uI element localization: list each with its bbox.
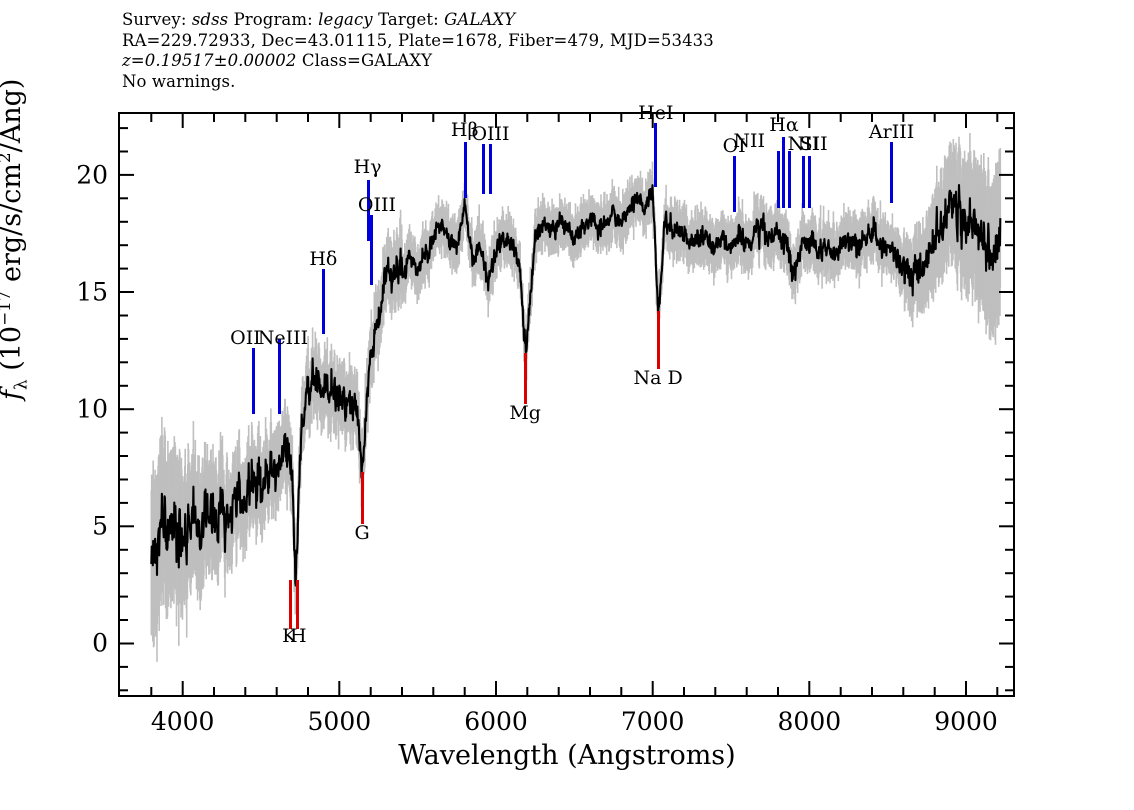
y-tick-20: 20 xyxy=(76,160,108,189)
plot-area: OIINeIIIHδKHGHγOIIIMgHβOIIIHeINa DOINIIH… xyxy=(118,112,1015,697)
header-line-survey: Survey: sdss Program: legacy Target: GAL… xyxy=(122,10,1022,31)
x-axis-label: Wavelength (Angstroms) xyxy=(0,740,1134,771)
header-line-coords: RA=229.72933, Dec=43.01115, Plate=1678, … xyxy=(122,31,1022,52)
x-tick-7000: 7000 xyxy=(621,707,685,736)
target-label: Target: xyxy=(373,10,444,29)
line-tick xyxy=(890,142,893,203)
program-value: legacy xyxy=(318,10,373,29)
header-line-redshift: z=0.19517±0.00002 Class=GALAXY xyxy=(122,51,1022,72)
x-tick-4000: 4000 xyxy=(151,707,215,736)
survey-label: Survey: xyxy=(122,10,192,29)
header-block: Survey: sdss Program: legacy Target: GAL… xyxy=(122,10,1022,92)
ylabel-units: erg/s/cm xyxy=(0,163,27,291)
y-axis-label: fλ (10−17 erg/s/cm2/Ang) xyxy=(0,79,30,400)
ylabel-mid: (10 xyxy=(0,326,27,379)
target-value: GALAXY xyxy=(444,10,515,29)
ylabel-units-exp: 2 xyxy=(0,152,14,163)
x-tick-6000: 6000 xyxy=(464,707,528,736)
ylabel-units-tail: /Ang) xyxy=(0,79,27,153)
y-tick-15: 15 xyxy=(76,278,108,307)
ylabel-f: f xyxy=(0,390,27,400)
survey-value: sdss xyxy=(192,10,228,29)
redshift-value: z=0.19517±0.00002 xyxy=(122,51,297,70)
y-tick-10: 10 xyxy=(76,395,108,424)
x-tick-5000: 5000 xyxy=(308,707,372,736)
class-value: Class=GALAXY xyxy=(297,51,433,70)
x-tick-9000: 9000 xyxy=(934,707,998,736)
line-label-ArIII: ArIII xyxy=(869,121,914,143)
header-line-warnings: No warnings. xyxy=(122,72,1022,93)
ylabel-exp: −17 xyxy=(0,291,14,326)
spectrum-viewer: Survey: sdss Program: legacy Target: GAL… xyxy=(0,0,1134,810)
ylabel-lambda: λ xyxy=(10,379,30,390)
x-tick-8000: 8000 xyxy=(778,707,842,736)
y-tick-5: 5 xyxy=(92,512,108,541)
program-label: Program: xyxy=(228,10,318,29)
line-marker-ArIII: ArIII xyxy=(118,112,1015,697)
y-tick-0: 0 xyxy=(92,629,108,658)
